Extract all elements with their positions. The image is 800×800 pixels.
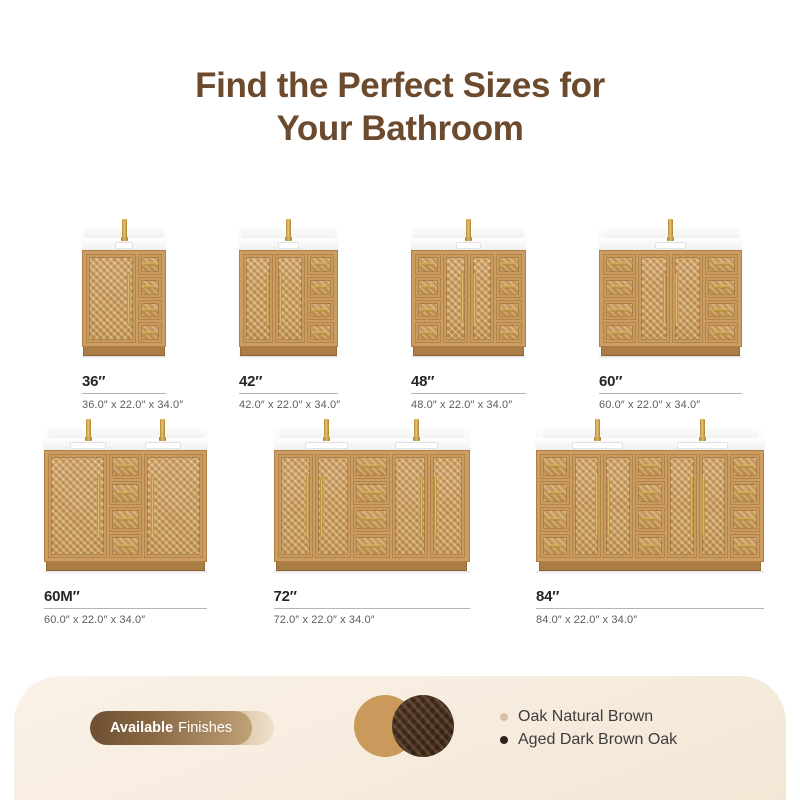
sink-basin xyxy=(655,242,686,249)
drawer-handle-icon xyxy=(362,544,381,547)
floor-shadow xyxy=(536,571,764,574)
cabinet-body xyxy=(536,450,764,562)
cabinet-body xyxy=(82,250,166,347)
drawer[interactable] xyxy=(730,507,760,532)
drawer[interactable] xyxy=(109,507,143,532)
drawer-handle-icon xyxy=(362,491,381,494)
drawer[interactable] xyxy=(603,300,636,321)
cabinet-door[interactable] xyxy=(699,454,729,558)
cabinet-door[interactable] xyxy=(243,254,273,343)
faucet-icon xyxy=(414,419,419,439)
sink-basin xyxy=(456,242,481,249)
size-name: 48″ xyxy=(411,373,526,390)
drawer[interactable] xyxy=(138,322,162,343)
drawer-handle-icon xyxy=(117,518,135,521)
label-divider xyxy=(274,608,470,609)
faucet-icon xyxy=(160,419,165,439)
cabinet-door[interactable] xyxy=(144,454,203,558)
countertop xyxy=(599,228,742,250)
page-title: Find the Perfect Sizes for Your Bathroom xyxy=(0,64,800,150)
drawer-handle-icon xyxy=(502,308,515,311)
drawer[interactable] xyxy=(307,322,334,343)
drawer-handle-icon xyxy=(117,491,135,494)
cabinet-door-pair xyxy=(243,254,305,343)
drawer-handle-icon xyxy=(737,544,752,547)
countertop xyxy=(536,428,764,450)
drawer-handle-icon xyxy=(737,465,752,468)
vanity-row-2: 60M″60.0″ x 22.0″ x 34.0″72″72.0″ x 22.0… xyxy=(44,428,764,626)
herringbone-door-face xyxy=(51,457,104,555)
sink-basin xyxy=(677,442,727,449)
vanity-cell: 60″60.0″ x 22.0″ x 34.0″ xyxy=(599,228,742,411)
door-handle-icon xyxy=(607,476,610,535)
drawer-handle-icon xyxy=(737,491,752,494)
size-dimensions: 84.0″ x 22.0″ x 34.0″ xyxy=(536,614,764,626)
countertop xyxy=(44,428,207,450)
counter-slab xyxy=(44,438,207,450)
drawer-handle-icon xyxy=(117,544,135,547)
drawer-stack xyxy=(603,254,636,343)
drawer-handle-icon xyxy=(314,263,328,266)
door-handle-icon xyxy=(690,476,693,535)
label-divider xyxy=(599,393,742,394)
pill-normal-label: Finishes xyxy=(178,720,232,736)
drawer[interactable] xyxy=(307,254,334,275)
cabinet-door-pair xyxy=(572,454,634,558)
drawer-stack xyxy=(496,254,522,343)
drawer-handle-icon xyxy=(713,308,730,311)
vanity-illustration[interactable] xyxy=(411,228,526,359)
legend-label: Aged Dark Brown Oak xyxy=(518,731,677,749)
title-line-2: Your Bathroom xyxy=(0,107,800,150)
drawer-handle-icon xyxy=(144,308,156,311)
vanity-cell: 36″36.0″ x 22.0″ x 34.0″ xyxy=(82,228,166,411)
sink-basin xyxy=(70,442,106,449)
drawer-stack xyxy=(109,454,143,558)
counter-slab xyxy=(274,438,470,450)
drawer-stack xyxy=(307,254,334,343)
door-handle-icon xyxy=(702,476,705,535)
drawer[interactable] xyxy=(415,254,441,275)
faucet-icon xyxy=(466,219,471,239)
door-handle-icon xyxy=(675,273,678,323)
faucet-icon xyxy=(668,219,673,239)
cabinet-door-pair xyxy=(443,254,495,343)
countertop xyxy=(411,228,526,250)
sink-basin xyxy=(572,442,622,449)
drawer-stack xyxy=(705,254,738,343)
drawer[interactable] xyxy=(496,322,522,343)
drawer-handle-icon xyxy=(421,331,434,334)
drawer-handle-icon xyxy=(144,331,156,334)
drawer[interactable] xyxy=(705,322,738,343)
cabinet-body xyxy=(239,250,338,347)
drawer-handle-icon xyxy=(362,518,381,521)
faucet-icon xyxy=(86,419,91,439)
drawer[interactable] xyxy=(540,454,570,479)
vanity-row-1: 36″36.0″ x 22.0″ x 34.0″42″42.0″ x 22.0″… xyxy=(82,228,742,411)
drawer[interactable] xyxy=(138,300,162,321)
vanity-cell: 42″42.0″ x 22.0″ x 34.0″ xyxy=(239,228,338,411)
door-handle-icon xyxy=(461,273,464,323)
vanity-illustration[interactable] xyxy=(599,228,742,359)
cabinet-door[interactable] xyxy=(470,254,495,343)
drawer-handle-icon xyxy=(547,518,562,521)
cabinet-door-pair xyxy=(278,454,352,558)
drawer[interactable] xyxy=(307,277,334,298)
door-handle-icon xyxy=(420,476,423,535)
floor-shadow xyxy=(599,356,742,359)
drawer-handle-icon xyxy=(502,331,515,334)
drawer-handle-icon xyxy=(502,263,515,266)
cabinet-door-pair xyxy=(392,454,466,558)
vanity-cell: 84″84.0″ x 22.0″ x 34.0″ xyxy=(536,428,764,626)
drawer-handle-icon xyxy=(737,518,752,521)
door-handle-icon xyxy=(279,273,282,323)
base-plinth xyxy=(276,562,466,571)
drawer-stack xyxy=(415,254,441,343)
drawer[interactable] xyxy=(540,507,570,532)
drawer-handle-icon xyxy=(547,465,562,468)
drawer[interactable] xyxy=(353,507,390,532)
drawer[interactable] xyxy=(138,254,162,275)
drawer-handle-icon xyxy=(144,263,156,266)
floor-shadow xyxy=(44,571,207,574)
faucet-icon xyxy=(595,419,600,439)
drawer[interactable] xyxy=(138,277,162,298)
faucet-icon xyxy=(122,219,127,239)
faucet-icon xyxy=(700,419,705,439)
drawer-stack xyxy=(730,454,760,558)
cabinet-door[interactable] xyxy=(603,454,633,558)
size-dimensions: 42.0″ x 22.0″ x 34.0″ xyxy=(239,399,338,411)
pill-bold-label: Available xyxy=(110,720,173,736)
vanity-cell: 60M″60.0″ x 22.0″ x 34.0″ xyxy=(44,428,207,626)
vanity-illustration[interactable] xyxy=(82,228,166,359)
drawer[interactable] xyxy=(415,277,441,298)
drawer[interactable] xyxy=(705,300,738,321)
base-plinth xyxy=(83,347,164,356)
size-label-block: 60M″60.0″ x 22.0″ x 34.0″ xyxy=(44,588,207,626)
drawer[interactable] xyxy=(705,254,738,275)
counter-slab xyxy=(536,438,764,450)
cabinet-door[interactable] xyxy=(638,254,670,343)
drawer-handle-icon xyxy=(547,491,562,494)
drawer[interactable] xyxy=(603,277,636,298)
base-plinth xyxy=(413,347,525,356)
vanity-illustration[interactable] xyxy=(274,428,470,574)
cabinet-door-pair xyxy=(667,454,729,558)
sink-basin xyxy=(278,242,300,249)
cabinet-door[interactable] xyxy=(392,454,428,558)
label-divider xyxy=(411,393,526,394)
drawer[interactable] xyxy=(109,534,143,559)
legend-bullet-icon xyxy=(500,713,508,721)
drawer[interactable] xyxy=(353,534,390,559)
vanity-illustration[interactable] xyxy=(44,428,207,574)
door-handle-icon xyxy=(473,273,476,323)
drawer[interactable] xyxy=(635,481,665,506)
cabinet-door[interactable] xyxy=(430,454,466,558)
drawer-handle-icon xyxy=(362,465,381,468)
size-name: 36″ xyxy=(82,373,166,390)
drawer-stack xyxy=(138,254,162,343)
drawer-handle-icon xyxy=(611,263,628,266)
faucet-icon xyxy=(324,419,329,439)
drawer[interactable] xyxy=(635,534,665,559)
size-name: 72″ xyxy=(274,588,470,605)
herringbone-door-face xyxy=(147,457,200,555)
drawer[interactable] xyxy=(415,300,441,321)
door-handle-icon xyxy=(595,476,598,535)
available-finishes-pill-zone: Available Finishes xyxy=(90,711,290,745)
size-name: 60″ xyxy=(599,373,742,390)
infographic-page: Find the Perfect Sizes for Your Bathroom… xyxy=(0,0,800,800)
floor-shadow xyxy=(411,356,526,359)
cabinet-door-single xyxy=(86,254,136,343)
base-plinth xyxy=(240,347,336,356)
base-plinth xyxy=(601,347,740,356)
drawer-handle-icon xyxy=(314,308,328,311)
drawer[interactable] xyxy=(603,254,636,275)
label-divider xyxy=(44,608,207,609)
door-handle-icon xyxy=(127,273,130,323)
sink-basin xyxy=(395,442,438,449)
drawer-handle-icon xyxy=(421,286,434,289)
drawer[interactable] xyxy=(540,534,570,559)
drawer[interactable] xyxy=(540,481,570,506)
size-label-block: 42″42.0″ x 22.0″ x 34.0″ xyxy=(239,373,338,411)
drawer-handle-icon xyxy=(502,286,515,289)
drawer-handle-icon xyxy=(144,286,156,289)
swatch-aged-dark-brown-oak[interactable] xyxy=(392,695,454,757)
cabinet-door[interactable] xyxy=(443,254,468,343)
drawer[interactable] xyxy=(730,454,760,479)
drawer[interactable] xyxy=(109,454,143,479)
size-dimensions: 60.0″ x 22.0″ x 34.0″ xyxy=(44,614,207,626)
vanity-illustration[interactable] xyxy=(536,428,764,574)
size-label-block: 72″72.0″ x 22.0″ x 34.0″ xyxy=(274,588,470,626)
legend-item[interactable]: Oak Natural Brown xyxy=(500,708,677,726)
size-dimensions: 72.0″ x 22.0″ x 34.0″ xyxy=(274,614,470,626)
drawer-handle-icon xyxy=(547,544,562,547)
drawer[interactable] xyxy=(496,254,522,275)
available-finishes-panel: Available Finishes Oak Natural BrownAged… xyxy=(14,676,786,800)
base-plinth xyxy=(539,562,760,571)
drawer-handle-icon xyxy=(642,518,657,521)
cabinet-door[interactable] xyxy=(86,254,136,343)
drawer-handle-icon xyxy=(642,491,657,494)
size-dimensions: 36.0″ x 22.0″ x 34.0″ xyxy=(82,399,166,411)
door-handle-icon xyxy=(434,476,437,535)
herringbone-door-face xyxy=(318,457,348,555)
size-dimensions: 60.0″ x 22.0″ x 34.0″ xyxy=(599,399,742,411)
base-plinth xyxy=(46,562,204,571)
faucet-icon xyxy=(286,219,291,239)
countertop xyxy=(239,228,338,250)
sink-basin xyxy=(145,442,181,449)
drawer[interactable] xyxy=(635,454,665,479)
drawer[interactable] xyxy=(730,534,760,559)
drawer-handle-icon xyxy=(314,331,328,334)
cabinet-body xyxy=(274,450,470,562)
title-line-1: Find the Perfect Sizes for xyxy=(0,64,800,107)
finish-swatches xyxy=(354,695,458,761)
size-name: 84″ xyxy=(536,588,764,605)
drawer[interactable] xyxy=(307,300,334,321)
label-divider xyxy=(536,608,764,609)
legend-item[interactable]: Aged Dark Brown Oak xyxy=(500,731,677,749)
countertop xyxy=(82,228,166,250)
floor-shadow xyxy=(82,356,166,359)
drawer[interactable] xyxy=(353,481,390,506)
cabinet-door-single xyxy=(144,454,203,558)
drawer-handle-icon xyxy=(713,286,730,289)
cabinet-door-single xyxy=(48,454,107,558)
drawer-handle-icon xyxy=(611,331,628,334)
vanity-illustration[interactable] xyxy=(239,228,338,359)
drawer-stack xyxy=(540,454,570,558)
drawer[interactable] xyxy=(353,454,390,479)
cabinet-door[interactable] xyxy=(672,254,704,343)
label-divider xyxy=(239,393,338,394)
drawer-handle-icon xyxy=(611,286,628,289)
door-handle-icon xyxy=(151,476,154,535)
size-label-block: 60″60.0″ x 22.0″ x 34.0″ xyxy=(599,373,742,411)
door-handle-icon xyxy=(663,273,666,323)
cabinet-body xyxy=(44,450,207,562)
drawer[interactable] xyxy=(496,300,522,321)
cabinet-door[interactable] xyxy=(48,454,107,558)
cabinet-door[interactable] xyxy=(315,454,351,558)
drawer-stack xyxy=(353,454,390,558)
cabinet-door-pair xyxy=(638,254,704,343)
drawer-handle-icon xyxy=(611,308,628,311)
drawer-handle-icon xyxy=(421,263,434,266)
drawer-handle-icon xyxy=(421,308,434,311)
drawer[interactable] xyxy=(705,277,738,298)
drawer[interactable] xyxy=(730,481,760,506)
cabinet-door[interactable] xyxy=(275,254,305,343)
size-name: 42″ xyxy=(239,373,338,390)
drawer[interactable] xyxy=(109,481,143,506)
door-handle-icon xyxy=(320,476,323,535)
drawer[interactable] xyxy=(603,322,636,343)
cabinet-body xyxy=(599,250,742,347)
cabinet-body xyxy=(411,250,526,347)
drawer-handle-icon xyxy=(314,286,328,289)
herringbone-door-face xyxy=(433,457,463,555)
size-dimensions: 48.0″ x 22.0″ x 34.0″ xyxy=(411,399,526,411)
size-label-block: 36″36.0″ x 22.0″ x 34.0″ xyxy=(82,373,166,411)
drawer-handle-icon xyxy=(713,263,730,266)
size-name: 60M″ xyxy=(44,588,207,605)
drawer[interactable] xyxy=(496,277,522,298)
drawer-handle-icon xyxy=(117,465,135,468)
drawer-handle-icon xyxy=(642,544,657,547)
size-label-block: 48″48.0″ x 22.0″ x 34.0″ xyxy=(411,373,526,411)
countertop xyxy=(274,428,470,450)
label-divider xyxy=(82,393,166,394)
legend-bullet-icon xyxy=(500,736,508,744)
sink-basin xyxy=(115,242,133,249)
vanity-cell: 48″48.0″ x 22.0″ x 34.0″ xyxy=(411,228,526,411)
available-finishes-pill[interactable]: Available Finishes xyxy=(90,711,252,745)
drawer[interactable] xyxy=(415,322,441,343)
door-handle-icon xyxy=(266,273,269,323)
door-handle-icon xyxy=(97,476,100,535)
size-label-block: 84″84.0″ x 22.0″ x 34.0″ xyxy=(536,588,764,626)
drawer-stack xyxy=(635,454,665,558)
cabinet-door[interactable] xyxy=(572,454,602,558)
legend-label: Oak Natural Brown xyxy=(518,708,653,726)
door-handle-icon xyxy=(306,476,309,535)
cabinet-door[interactable] xyxy=(278,454,314,558)
floor-shadow xyxy=(239,356,338,359)
finish-legend: Oak Natural BrownAged Dark Brown Oak xyxy=(500,708,677,749)
cabinet-door[interactable] xyxy=(667,454,697,558)
sink-basin xyxy=(305,442,348,449)
drawer[interactable] xyxy=(635,507,665,532)
drawer-handle-icon xyxy=(642,465,657,468)
drawer-handle-icon xyxy=(713,331,730,334)
floor-shadow xyxy=(274,571,470,574)
vanity-cell: 72″72.0″ x 22.0″ x 34.0″ xyxy=(274,428,470,626)
